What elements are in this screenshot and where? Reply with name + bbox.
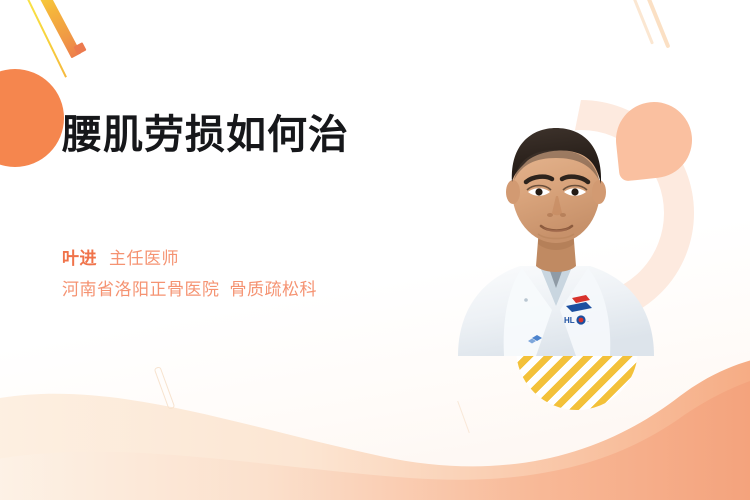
yellow-striped-circle-decoration: [516, 288, 638, 410]
doctor-name: 叶进: [62, 249, 97, 268]
doctor-hair: [512, 128, 601, 184]
peach-arc-decoration: [468, 100, 694, 326]
thin-yellow-diagonal-line: [23, 0, 67, 78]
top-right-diagonal-line-2: [644, 0, 671, 48]
doctor-professional-title: 主任医师: [109, 249, 179, 268]
outlined-diagonal-line: [154, 366, 176, 410]
doctor-affiliation-row: 河南省洛阳正骨医院骨质疏松科: [62, 277, 442, 303]
hospital-name: 河南省洛阳正骨医院: [62, 280, 220, 299]
diagonal-stripe-tip: [73, 42, 86, 55]
doctor-coat: [458, 266, 654, 356]
svg-text:HL: HL: [564, 316, 575, 325]
top-right-diagonal-line-1: [631, 0, 654, 45]
doctor-portrait: HL ·: [440, 110, 670, 356]
text-block: 腰肌劳损如何治 叶进主任医师 河南省洛阳正骨医院骨质疏松科: [62, 112, 442, 304]
department-name: 骨质疏松科: [230, 280, 318, 299]
orange-circle-decoration: [0, 69, 64, 167]
svg-text:·: ·: [587, 319, 589, 325]
hospital-badge: HL ·: [564, 295, 592, 325]
salmon-wave-decoration: [0, 370, 750, 500]
doctor-name-row: 叶进主任医师: [62, 246, 442, 272]
peach-blob-decoration: [612, 98, 696, 182]
faint-diagonal-line: [457, 401, 470, 433]
doctor-face: [512, 137, 600, 243]
page-title: 腰肌劳损如何治: [62, 112, 442, 158]
doctor-info-card: HL · 腰肌劳损如何治 叶进主任医师 河南省洛阳正骨医院骨质疏松科: [0, 0, 750, 500]
cream-wave-decoration: [0, 352, 750, 500]
thick-orange-diagonal-stripe: [38, 0, 82, 58]
